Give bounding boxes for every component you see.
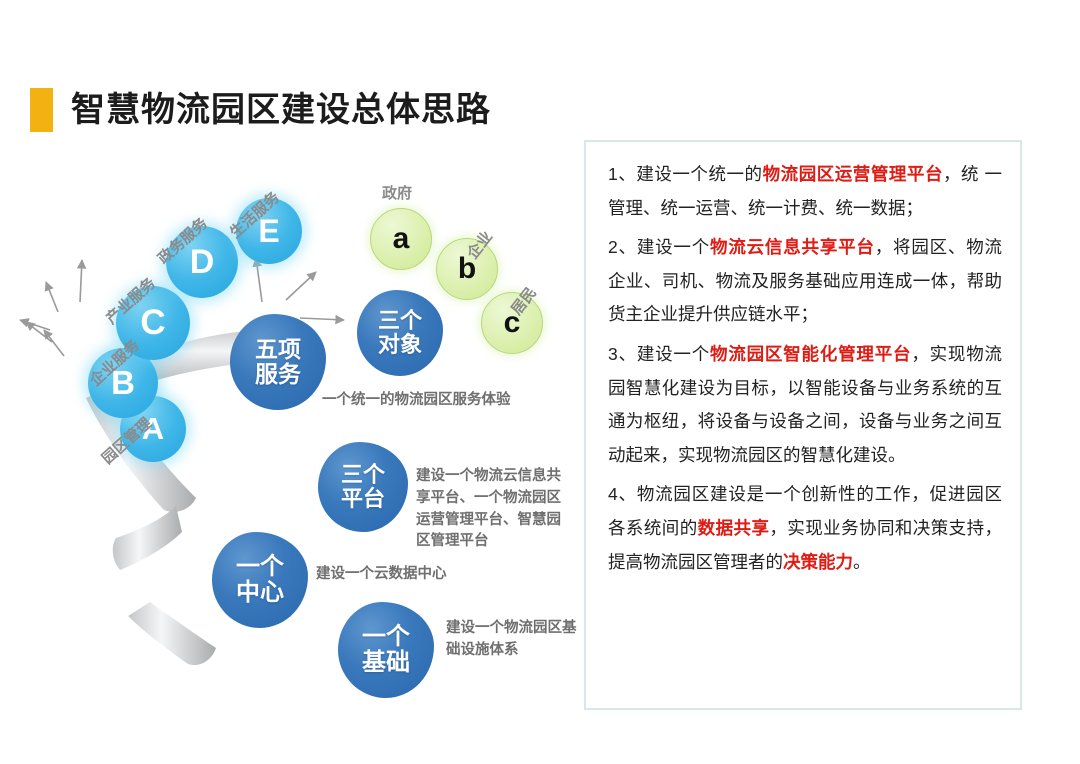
- main-node-one-foundation-line2: 基础: [362, 650, 410, 676]
- caption-three-platforms: 建设一个物流云信息共享平台、一个物流园区运营管理平台、智慧园区管理平台: [416, 466, 562, 553]
- object-node-a[interactable]: a: [370, 208, 432, 270]
- main-node-one-center-line2: 中心: [236, 580, 284, 606]
- concept-diagram: A B C D E a b c 园区管理 企业服务 产业服务 政务服务 生活服务: [0, 150, 580, 710]
- main-node-three-platforms-line2: 平台: [341, 487, 385, 511]
- title-bullet-icon: [30, 88, 53, 132]
- slide-canvas: 智慧物流园区建设总体思路: [0, 0, 1080, 764]
- item-4-text-4: 。: [853, 552, 871, 572]
- description-panel: 1、建设一个统一的物流园区运营管理平台，统 一管理、统一运营、统一计费、统一数据…: [584, 140, 1022, 710]
- page-title: 智慧物流园区建设总体思路: [30, 88, 491, 132]
- panel-paragraph-3: 3、建设一个物流园区智能化管理平台，实现物流园智慧化建设为目标，以智能设备与业务…: [608, 338, 1002, 472]
- page-title-text: 智慧物流园区建设总体思路: [71, 93, 491, 127]
- service-node-c-key: C: [140, 303, 165, 343]
- item-2-highlight-1: 物流云信息共享平台: [710, 237, 875, 257]
- main-node-three-objects-line1: 三个: [378, 309, 422, 333]
- item-1-text-0: 1、建设一个统一的: [608, 164, 763, 184]
- caption-one-foundation: 建设一个物流园区基础设施体系: [446, 618, 588, 662]
- item-4-highlight-3: 决策能力: [783, 552, 853, 572]
- main-node-one-center-line1: 一个: [236, 554, 284, 580]
- panel-paragraph-4: 4、物流园区建设是一个创新性的工作，促进园区各系统间的数据共享，实现业务协同和决…: [608, 478, 1002, 579]
- item-2-text-0: 2、建设一个: [608, 237, 710, 257]
- object-label-a: 政府: [382, 182, 412, 203]
- panel-paragraph-1: 1、建设一个统一的物流园区运营管理平台，统 一管理、统一运营、统一计费、统一数据…: [608, 158, 1002, 225]
- panel-paragraph-2: 2、建设一个物流云信息共享平台，将园区、物流企业、司机、物流及服务基础应用连成一…: [608, 231, 1002, 332]
- object-node-a-key: a: [393, 222, 410, 256]
- item-3-text-0: 3、建设一个: [608, 344, 710, 364]
- service-node-d-key: D: [190, 243, 215, 282]
- main-node-five-services-line2: 服务: [255, 362, 301, 387]
- main-node-one-foundation-line1: 一个: [362, 624, 410, 650]
- caption-one-center: 建设一个云数据中心: [316, 564, 447, 586]
- main-node-five-services-line1: 五项: [255, 337, 301, 362]
- item-3-highlight-1: 物流园区智能化管理平台: [710, 344, 911, 364]
- item-1-highlight-1: 物流园区运营管理平台: [763, 164, 943, 184]
- caption-service-experience: 一个统一的物流园区服务体验: [322, 390, 511, 412]
- item-4-highlight-1: 数据共享: [698, 518, 770, 538]
- main-node-three-objects-line2: 对象: [378, 333, 422, 357]
- main-node-three-platforms-line1: 三个: [341, 463, 385, 487]
